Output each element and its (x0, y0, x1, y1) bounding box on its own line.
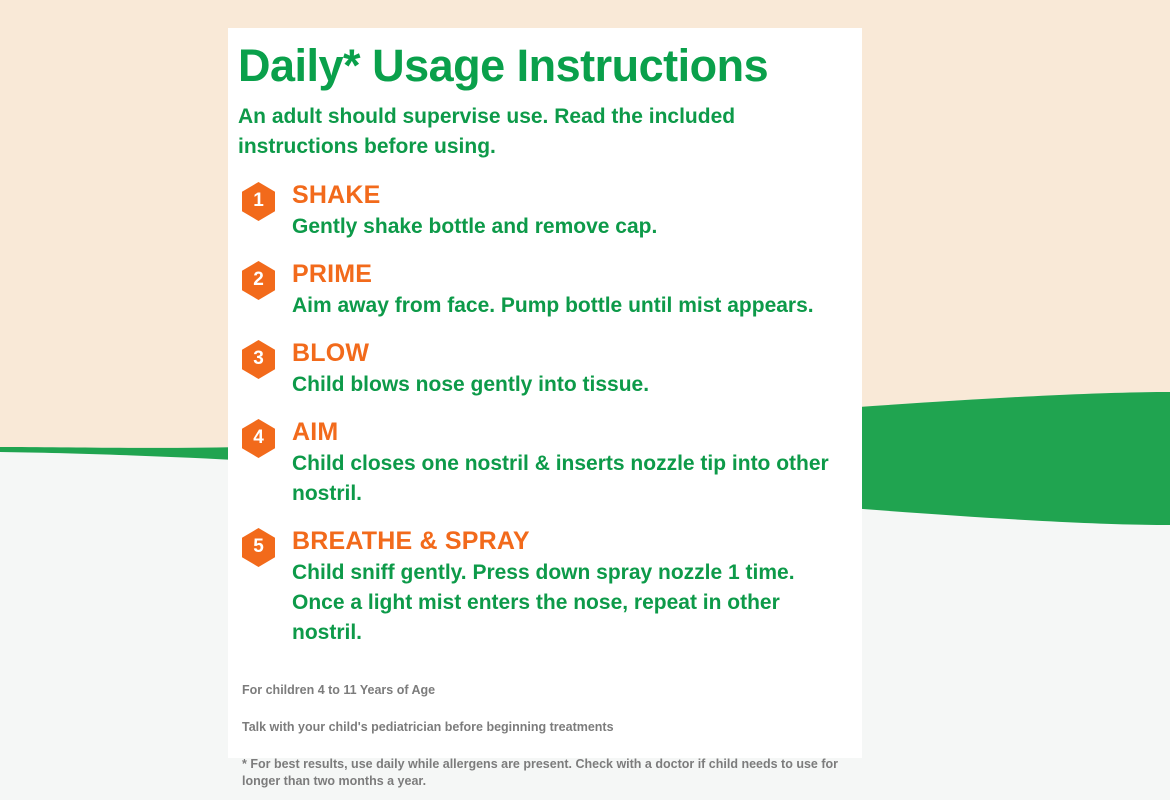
step-item-1: 1 SHAKE Gently shake bottle and remove c… (238, 180, 848, 242)
step-item-4: 4 AIM Child closes one nostril & inserts… (238, 417, 848, 509)
step-number-3: 3 (253, 349, 264, 368)
step-title-2: PRIME (292, 259, 848, 289)
footnote-daily-use-asterisk: * For best results, use daily while alle… (242, 756, 842, 790)
step-title-4: AIM (292, 417, 848, 447)
instruction-card: Daily* Usage Instructions An adult shoul… (228, 28, 862, 758)
step-number-badge-4: 4 (242, 419, 275, 458)
step-title-1: SHAKE (292, 180, 848, 210)
footnote-pediatrician: Talk with your child's pediatrician befo… (242, 719, 842, 736)
footnote-age-range: For children 4 to 11 Years of Age (242, 682, 842, 699)
step-item-3: 3 BLOW Child blows nose gently into tiss… (238, 338, 848, 400)
instruction-poster: Daily* Usage Instructions An adult shoul… (0, 0, 1170, 800)
step-number-badge-2: 2 (242, 261, 275, 300)
steps-list: 1 SHAKE Gently shake bottle and remove c… (238, 180, 848, 648)
step-description-4: Child closes one nostril & inserts nozzl… (292, 449, 848, 509)
step-item-5: 5 BREATHE & SPRAY Child sniff gently. Pr… (238, 526, 848, 648)
page-title: Daily* Usage Instructions (238, 38, 848, 94)
step-number-4: 4 (253, 428, 264, 447)
step-number-5: 5 (253, 537, 264, 556)
step-description-1: Gently shake bottle and remove cap. (292, 212, 848, 242)
step-title-5: BREATHE & SPRAY (292, 526, 848, 556)
step-number-1: 1 (253, 191, 264, 210)
intro-text: An adult should supervise use. Read the … (238, 102, 758, 162)
step-description-3: Child blows nose gently into tissue. (292, 370, 848, 400)
step-number-badge-5: 5 (242, 528, 275, 567)
step-item-2: 2 PRIME Aim away from face. Pump bottle … (238, 259, 848, 321)
footnotes-section: For children 4 to 11 Years of Age Talk w… (238, 682, 848, 790)
step-number-badge-3: 3 (242, 340, 275, 379)
step-title-3: BLOW (292, 338, 848, 368)
step-description-5: Child sniff gently. Press down spray noz… (292, 558, 848, 648)
step-description-2: Aim away from face. Pump bottle until mi… (292, 291, 848, 321)
step-number-badge-1: 1 (242, 182, 275, 221)
step-number-2: 2 (253, 270, 264, 289)
